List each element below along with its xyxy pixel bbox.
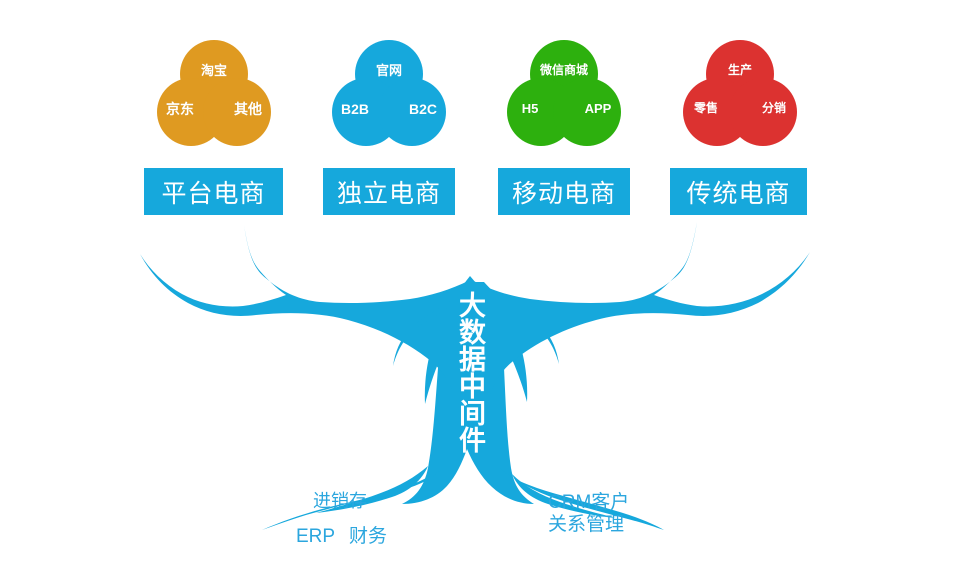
category-bar-traditional[interactable]: 传统电商 <box>670 168 807 215</box>
node-mobile-bottom-right: APP <box>571 102 625 115</box>
root-label-erp: ERP <box>296 526 335 548</box>
clover-shape-independent <box>324 38 454 153</box>
category-bar-mobile[interactable]: 移动电商 <box>498 168 630 215</box>
node-independent-bottom-right: B2C <box>396 102 450 116</box>
node-independent-bottom-left: B2B <box>328 102 382 116</box>
cluster-mobile[interactable]: 微信商城 H5 APP <box>499 38 629 153</box>
node-traditional-bottom-right: 分销 <box>747 102 801 114</box>
node-platform-bottom-right: 其他 <box>221 102 275 116</box>
category-label-traditional: 传统电商 <box>686 174 790 210</box>
node-traditional-top: 生产 <box>675 64 805 76</box>
category-label-independent: 独立电商 <box>337 174 441 210</box>
clover-shape-platform <box>149 38 279 153</box>
root-label-crm-line2: 关系管理 <box>548 514 624 535</box>
branch-far-left <box>140 225 470 402</box>
clover-shape-mobile <box>499 38 629 153</box>
trunk-label: 大数据中间件 <box>440 282 484 462</box>
root-label-crm: CRM客户关系管理 <box>548 492 629 536</box>
category-label-platform: 平台电商 <box>161 174 265 210</box>
root-label-crm-line1: CRM客户 <box>548 492 629 513</box>
category-label-mobile: 移动电商 <box>512 174 616 210</box>
category-bar-independent[interactable]: 独立电商 <box>323 168 455 215</box>
node-mobile-top: 微信商城 <box>499 64 629 76</box>
node-platform-bottom-left: 京东 <box>153 102 207 116</box>
root-label-jinxiaocun: 进销存 <box>313 491 367 512</box>
cluster-platform[interactable]: 淘宝 京东 其他 <box>149 38 279 153</box>
cluster-independent[interactable]: 官网 B2B B2C <box>324 38 454 153</box>
node-mobile-bottom-left: H5 <box>503 102 557 115</box>
diagram-canvas: 大数据中间件 淘宝 京东 其他 官网 B2B B2C 微信商城 H5 APP <box>0 0 966 571</box>
clover-shape-traditional <box>675 38 805 153</box>
node-traditional-bottom-left: 零售 <box>679 102 733 114</box>
node-independent-top: 官网 <box>324 64 454 77</box>
node-platform-top: 淘宝 <box>149 64 279 77</box>
category-bar-platform[interactable]: 平台电商 <box>144 168 283 215</box>
cluster-traditional[interactable]: 生产 零售 分销 <box>675 38 805 153</box>
root-label-caiwu: 财务 <box>349 526 387 548</box>
